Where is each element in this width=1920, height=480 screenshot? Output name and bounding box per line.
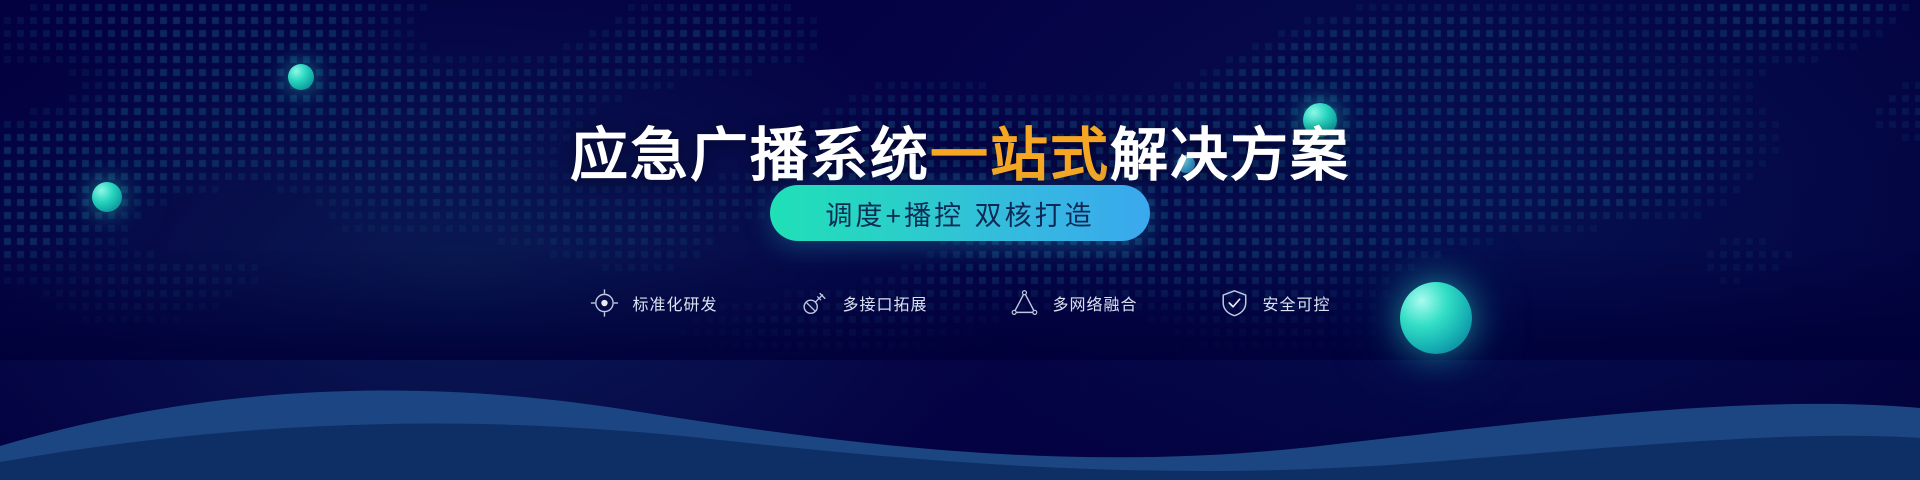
bottom-wave-decoration xyxy=(0,350,1920,480)
subtitle-text: 调度+播控 双核打造 xyxy=(825,194,1094,233)
feature-label: 多网络融合 xyxy=(1053,291,1138,315)
banner-title: 应急广播系统一站式解决方案 xyxy=(0,121,1920,191)
feature-label: 安全可控 xyxy=(1263,291,1331,315)
network-triangle-icon xyxy=(1010,288,1040,318)
hero-banner: 应急广播系统一站式解决方案 调度+播控 双核打造 标准化研发 xyxy=(0,0,1920,480)
subtitle-pill: 调度+播控 双核打造 xyxy=(770,185,1150,241)
target-crosshair-icon xyxy=(589,288,619,318)
feature-item-multi-interface: 多接口拓展 xyxy=(799,288,927,318)
feature-item-multi-network: 多网络融合 xyxy=(1010,288,1138,318)
title-segment-highlight: 一站式 xyxy=(930,123,1110,188)
feature-label: 多接口拓展 xyxy=(842,291,927,315)
feature-label: 标准化研发 xyxy=(632,291,717,315)
feature-item-secure-controllable: 安全可控 xyxy=(1220,288,1331,318)
feature-list: 标准化研发 多接口拓展 多网络融合 xyxy=(589,288,1330,318)
title-segment-1: 应急广播系统 xyxy=(570,123,930,188)
feature-item-standardized-rd: 标准化研发 xyxy=(589,288,717,318)
shield-check-icon xyxy=(1220,288,1250,318)
plug-connector-icon xyxy=(799,288,829,318)
title-segment-3: 解决方案 xyxy=(1110,123,1350,188)
